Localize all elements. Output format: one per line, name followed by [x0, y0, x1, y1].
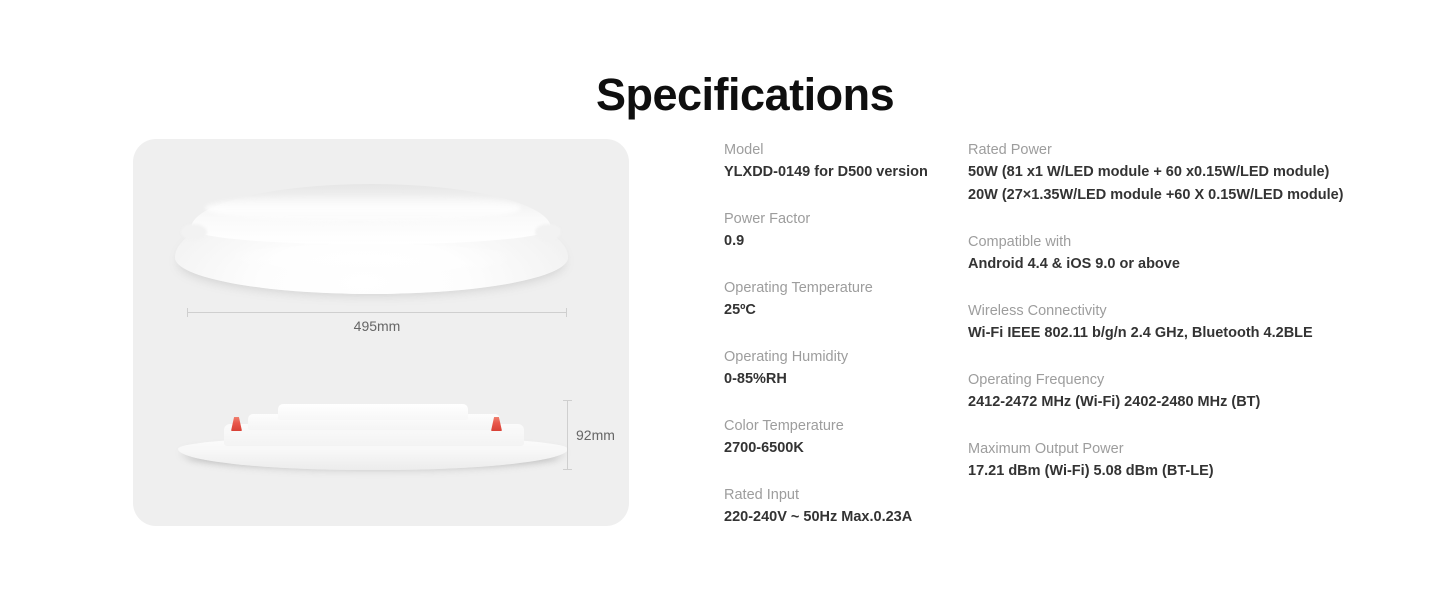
spec-value: YLXDD-0149 for D500 version [724, 161, 954, 183]
spec-label: Operating Frequency [968, 369, 1368, 391]
lamp-bottom-view-illustration [178, 394, 568, 474]
lamp-top-view-illustration [175, 184, 568, 294]
lamp-base-tier-4 [278, 404, 468, 420]
spec-value: Wi-Fi IEEE 802.11 b/g/n 2.4 GHz, Bluetoo… [968, 322, 1368, 344]
height-dimension-label: 92mm [576, 426, 615, 444]
spec-item-model: Model YLXDD-0149 for D500 version [724, 139, 954, 183]
lamp-mounting-clip-left [231, 417, 242, 431]
spec-value: 17.21 dBm (Wi-Fi) 5.08 dBm (BT-LE) [968, 460, 1368, 482]
spec-value: Android 4.4 & iOS 9.0 or above [968, 253, 1368, 275]
spec-label: Operating Temperature [724, 277, 954, 299]
width-dimension-label: 495mm [133, 317, 621, 335]
spec-label: Power Factor [724, 208, 954, 230]
spec-value: 2412-2472 MHz (Wi-Fi) 2402-2480 MHz (BT) [968, 391, 1368, 413]
spec-item-color-temperature: Color Temperature 2700-6500K [724, 415, 954, 459]
lamp-dome-highlight [205, 193, 521, 223]
spec-label: Color Temperature [724, 415, 954, 437]
spec-label: Wireless Connectivity [968, 300, 1368, 322]
spec-value: 2700-6500K [724, 437, 954, 459]
spec-value: 220-240V ~ 50Hz Max.0.23A [724, 506, 954, 528]
lamp-dome-left-edge [181, 224, 207, 240]
lamp-dome-right-edge [535, 224, 561, 240]
spec-label: Maximum Output Power [968, 438, 1368, 460]
spec-value: 20W (27×1.35W/LED module +60 X 0.15W/LED… [968, 184, 1368, 206]
page-title: Specifications [596, 66, 894, 124]
spec-value: 0.9 [724, 230, 954, 252]
spec-label: Model [724, 139, 954, 161]
lamp-dome-rim-highlight [193, 244, 549, 288]
spec-value: 25ºC [724, 299, 954, 321]
spec-item-wireless-connectivity: Wireless Connectivity Wi-Fi IEEE 802.11 … [968, 300, 1368, 344]
spec-label: Operating Humidity [724, 346, 954, 368]
spec-item-power-factor: Power Factor 0.9 [724, 208, 954, 252]
height-dimension-line [567, 400, 568, 470]
spec-item-operating-frequency: Operating Frequency 2412-2472 MHz (Wi-Fi… [968, 369, 1368, 413]
spec-column-left: Model YLXDD-0149 for D500 version Power … [724, 139, 954, 528]
spec-item-operating-temperature: Operating Temperature 25ºC [724, 277, 954, 321]
spec-item-operating-humidity: Operating Humidity 0-85%RH [724, 346, 954, 390]
spec-item-compatible-with: Compatible with Android 4.4 & iOS 9.0 or… [968, 231, 1368, 275]
width-dimension-line [187, 312, 567, 313]
product-image-card: 495mm 92mm [133, 139, 629, 526]
spec-item-maximum-output-power: Maximum Output Power 17.21 dBm (Wi-Fi) 5… [968, 438, 1368, 482]
spec-label: Rated Input [724, 484, 954, 506]
spec-value: 50W (81 x1 W/LED module + 60 x0.15W/LED … [968, 161, 1368, 183]
spec-label: Rated Power [968, 139, 1368, 161]
spec-item-rated-power: Rated Power 50W (81 x1 W/LED module + 60… [968, 139, 1368, 206]
spec-label: Compatible with [968, 231, 1368, 253]
spec-item-rated-input: Rated Input 220-240V ~ 50Hz Max.0.23A [724, 484, 954, 528]
spec-value: 0-85%RH [724, 368, 954, 390]
spec-column-right: Rated Power 50W (81 x1 W/LED module + 60… [968, 139, 1368, 482]
